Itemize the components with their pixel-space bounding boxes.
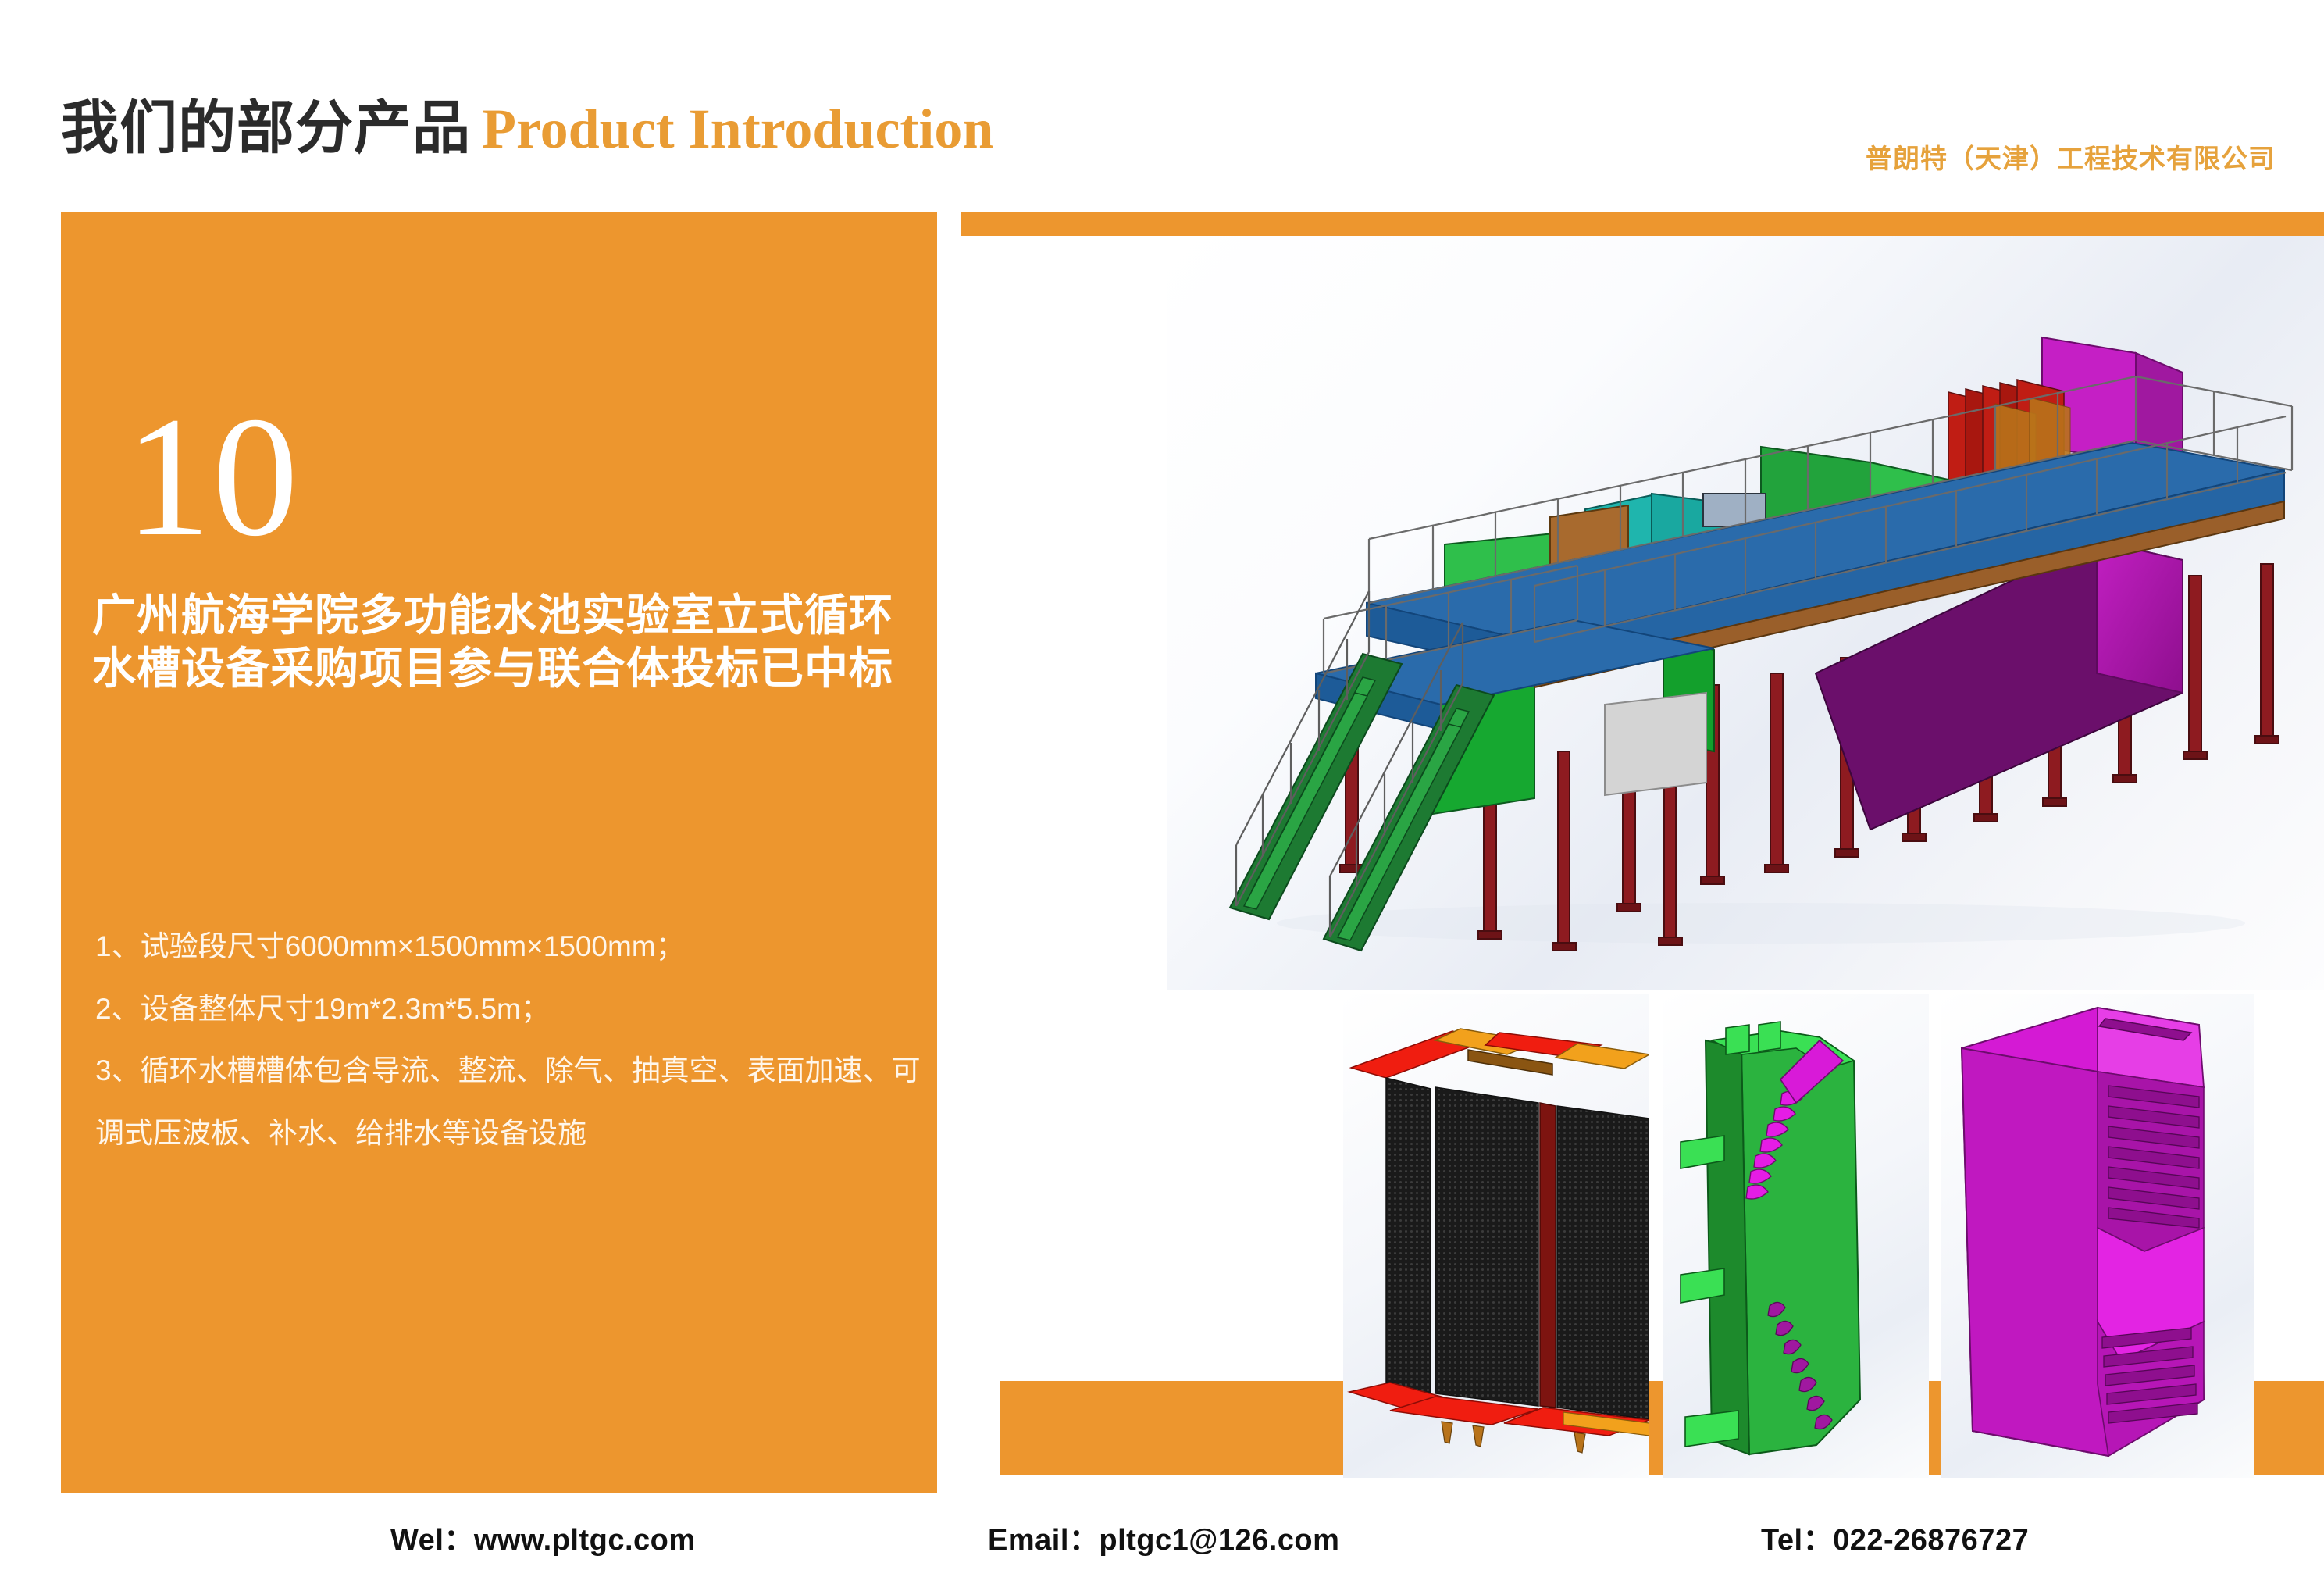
green-duct-turning-vanes-illustration [1663,994,1929,1478]
magenta-corner-guide-vane-illustration [1941,994,2254,1478]
component-render-honeycomb [1343,994,1649,1478]
page-title-cn: 我们的部分产品 [61,97,471,161]
page-header: 我们的部分产品Product Introduction 普朗特（天津）工程技术有… [0,0,2324,212]
page-footer: Wel：www.pltgc.com Email：pltgc1@126.com T… [0,1507,2324,1577]
page-title: 我们的部分产品Product Introduction [61,100,993,158]
project-info-panel: 10 广州航海学院多功能水池实验室立式循环水槽设备采购项目参与联合体投标已中标 … [61,212,937,1493]
media-column [961,212,2324,1493]
project-number: 10 [125,391,300,562]
slide-page: 我们的部分产品Product Introduction 普朗特（天津）工程技术有… [0,0,2324,1577]
honeycomb-rectifier-illustration [1343,994,1649,1478]
component-render-green-duct [1663,994,1929,1478]
footer-email[interactable]: Email：pltgc1@126.com [988,1515,1339,1558]
list-item: 1、试验段尺寸6000mm×1500mm×1500mm； [95,915,923,978]
project-spec-list: 1、试验段尺寸6000mm×1500mm×1500mm； 2、设备整体尺寸19m… [95,915,923,1164]
list-item: 3、循环水槽槽体包含导流、整流、除气、抽真空、表面加速、可调式压波板、补水、给排… [95,1040,923,1164]
company-name: 普朗特（天津）工程技术有限公司 [1866,137,2276,176]
footer-website[interactable]: Wel：www.pltgc.com [390,1515,696,1558]
page-title-en: Product Introduction [482,98,993,160]
footer-telephone: Tel：022-26876727 [1761,1515,2029,1558]
component-render-magenta-corner [1941,994,2254,1478]
accent-bar-top [961,212,2324,236]
water-channel-assembly-illustration [1167,236,2324,990]
main-cad-render [1167,236,2324,990]
project-title: 广州航海学院多功能水池实验室立式循环水槽设备采购项目参与联合体投标已中标 [92,589,920,696]
list-item: 2、设备整体尺寸19m*2.3m*5.5m； [95,978,923,1040]
